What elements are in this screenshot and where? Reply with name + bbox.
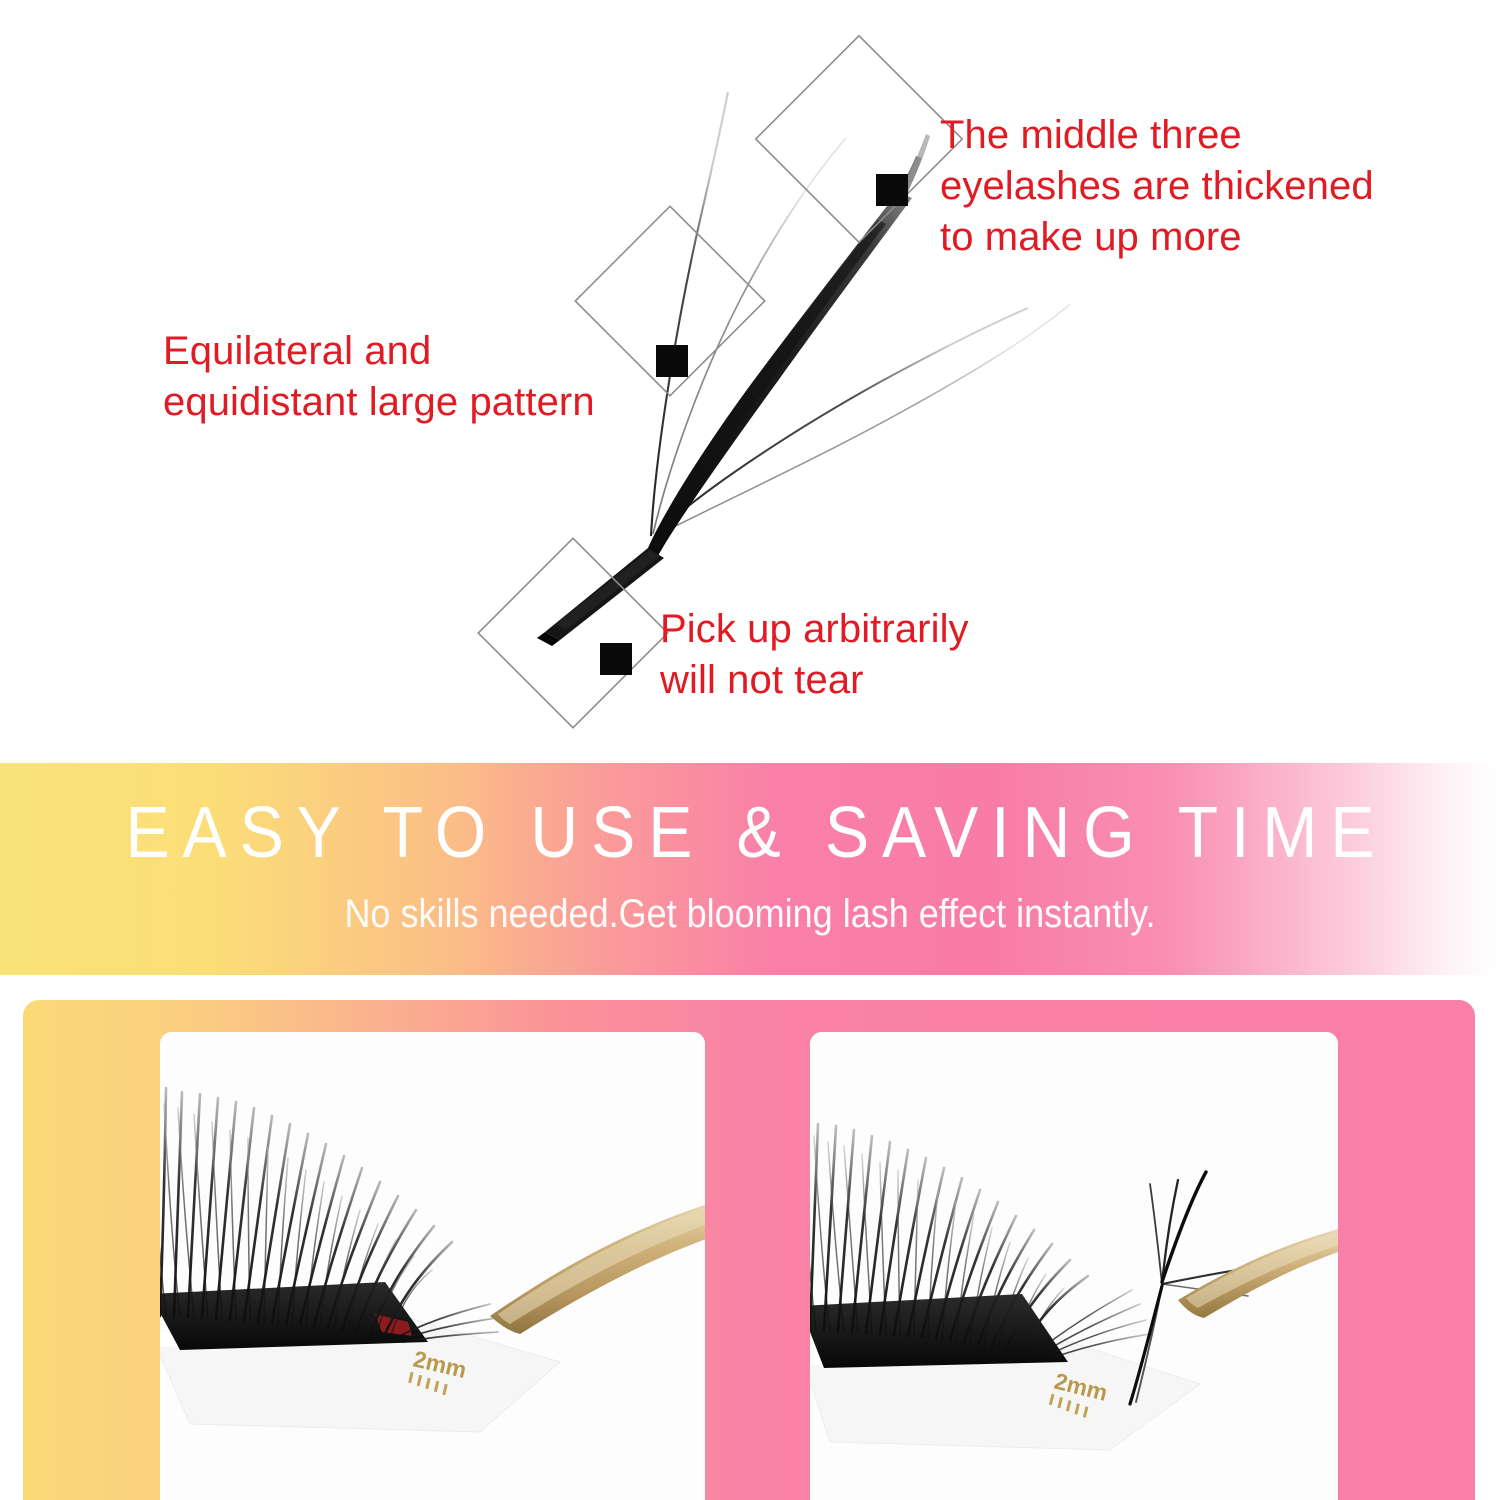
banner-subtitle: No skills needed.Get blooming lash effec…	[75, 894, 1425, 934]
banner-title: EASY TO USE & SAVING TIME	[60, 797, 1440, 869]
lash-diagram-section: The middle three eyelashes are thickened…	[0, 0, 1500, 763]
callout-middle-three-thickened: The middle three eyelashes are thickened…	[940, 110, 1410, 264]
gradient-banner: EASY TO USE & SAVING TIME No skills need…	[0, 763, 1500, 975]
lash-tray-photo: 2mm	[160, 1032, 705, 1500]
marker-diamond-top-right	[756, 36, 962, 242]
callout-pick-up-no-tear: Pick up arbitrarily will not tear	[660, 604, 1060, 706]
callout-equilateral-equidistant: Equilateral and equidistant large patter…	[163, 326, 633, 428]
photo-card-lash-fan-lifted: 2mm	[810, 1032, 1338, 1500]
photo-card-lash-tray-with-tweezers: 2mm	[160, 1032, 705, 1500]
lash-fan-lift-photo: 2mm	[810, 1032, 1338, 1500]
product-photo-panel: 2mm	[23, 1000, 1475, 1500]
product-feature-page: The middle three eyelashes are thickened…	[0, 0, 1500, 1500]
lash-strip-base	[537, 548, 664, 646]
